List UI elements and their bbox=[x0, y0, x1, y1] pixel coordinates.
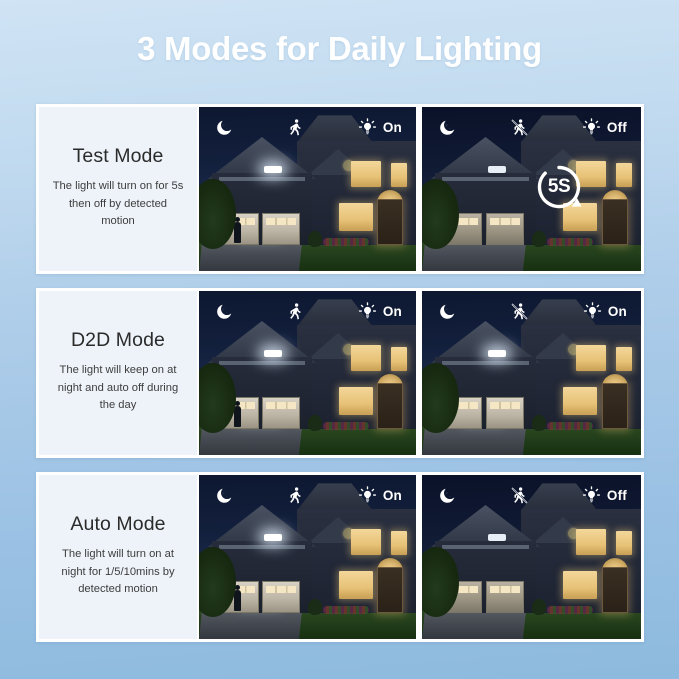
light-bulb-icon bbox=[358, 118, 377, 137]
window-upper-right bbox=[576, 529, 606, 555]
shrub bbox=[308, 415, 322, 431]
window-lower-right bbox=[563, 571, 597, 599]
garage-door-2 bbox=[486, 581, 524, 613]
status-icon-bar: On bbox=[199, 299, 416, 323]
window-upper-right bbox=[351, 161, 381, 187]
garage-window-2 bbox=[266, 586, 296, 593]
light-bulb-icon bbox=[358, 486, 377, 505]
lamp-state-label: On bbox=[383, 488, 402, 503]
window-lower-right bbox=[563, 203, 597, 231]
light-bulb-icon bbox=[582, 486, 601, 505]
window-upper-far-right bbox=[391, 163, 407, 187]
roof-trim bbox=[219, 545, 306, 549]
mode-text-panel: Test Mode The light will turn on for 5s … bbox=[39, 107, 197, 271]
no-motion-person-icon bbox=[510, 302, 529, 321]
no-motion-person-icon bbox=[510, 118, 529, 137]
motion-indicator bbox=[234, 486, 358, 505]
night-indicator bbox=[438, 486, 457, 505]
night-indicator bbox=[438, 302, 457, 321]
modes-list: Test Mode The light will turn on for 5s … bbox=[36, 104, 644, 656]
status-icon-bar: Off bbox=[422, 483, 641, 507]
mode-description: The light will turn on at night for 1/5/… bbox=[45, 546, 191, 598]
shrub bbox=[308, 599, 322, 615]
lamp-state-label: On bbox=[608, 304, 627, 319]
lamp-indicator: Off bbox=[582, 118, 627, 137]
light-bulb-icon bbox=[358, 302, 377, 321]
garage-window-2 bbox=[266, 218, 296, 225]
scene-photo-left: On bbox=[197, 475, 419, 639]
walking-person-motion-icon bbox=[286, 302, 305, 321]
mode-title: Test Mode bbox=[73, 146, 164, 167]
mode-title: D2D Mode bbox=[71, 330, 165, 351]
light-bulb-icon bbox=[583, 302, 602, 321]
window-lower-right bbox=[339, 571, 373, 599]
front-door bbox=[377, 567, 403, 613]
flower-bed bbox=[547, 238, 593, 246]
window-upper-far-right bbox=[616, 163, 632, 187]
window-upper-right bbox=[576, 345, 606, 371]
window-upper-far-right bbox=[616, 347, 632, 371]
garage-window-2 bbox=[490, 586, 520, 593]
security-floodlight bbox=[488, 350, 506, 357]
mode-photos: On bbox=[197, 291, 641, 455]
motion-indicator bbox=[457, 118, 582, 137]
night-indicator bbox=[215, 486, 234, 505]
garage-door-2 bbox=[486, 213, 524, 245]
lamp-indicator: On bbox=[358, 302, 402, 321]
lamp-indicator: On bbox=[358, 118, 402, 137]
lamp-state-label: On bbox=[383, 304, 402, 319]
motion-indicator bbox=[457, 302, 583, 321]
lamp-state-label: Off bbox=[607, 488, 627, 503]
moon-night-icon bbox=[438, 118, 457, 137]
garage-window-2 bbox=[266, 402, 296, 409]
security-floodlight bbox=[488, 534, 506, 541]
garage-window-2 bbox=[490, 218, 520, 225]
moon-night-icon bbox=[215, 302, 234, 321]
garage-door-2 bbox=[262, 213, 300, 245]
garage-window-2 bbox=[490, 402, 520, 409]
scene-photo-right: Off bbox=[419, 107, 641, 271]
infographic-page: 3 Modes for Daily Lighting Test Mode The… bbox=[0, 0, 679, 679]
moon-night-icon bbox=[438, 486, 457, 505]
front-door bbox=[377, 199, 403, 245]
night-indicator bbox=[215, 302, 234, 321]
flower-bed bbox=[547, 606, 593, 614]
shrub bbox=[532, 231, 546, 247]
scene-photo-right: Off bbox=[419, 475, 641, 639]
flower-bed bbox=[323, 238, 369, 246]
motion-indicator bbox=[234, 118, 358, 137]
status-icon-bar: On bbox=[199, 115, 416, 139]
lamp-indicator: Off bbox=[582, 486, 627, 505]
security-floodlight bbox=[488, 166, 506, 173]
front-door bbox=[602, 383, 628, 429]
garage-door-2 bbox=[262, 581, 300, 613]
front-door bbox=[602, 567, 628, 613]
mode-description: The light will turn on for 5s then off b… bbox=[45, 178, 191, 230]
window-lower-right bbox=[339, 203, 373, 231]
mode-row: Auto Mode The light will turn on at nigh… bbox=[36, 472, 644, 642]
page-title: 3 Modes for Daily Lighting bbox=[0, 30, 679, 68]
window-upper-far-right bbox=[391, 347, 407, 371]
roof-trim bbox=[219, 361, 306, 365]
roof-trim bbox=[442, 545, 530, 549]
shrub bbox=[532, 415, 546, 431]
window-upper-right bbox=[351, 529, 381, 555]
lamp-indicator: On bbox=[583, 302, 627, 321]
roof-trim bbox=[442, 177, 530, 181]
window-upper-far-right bbox=[616, 531, 632, 555]
mode-title: Auto Mode bbox=[70, 514, 165, 535]
roof-trim bbox=[442, 361, 530, 365]
mode-description: The light will keep on at night and auto… bbox=[45, 362, 191, 414]
status-icon-bar: Off bbox=[422, 115, 641, 139]
mode-photos: On bbox=[197, 475, 641, 639]
scene-photo-left: On bbox=[197, 291, 419, 455]
lamp-state-label: On bbox=[383, 120, 402, 135]
flower-bed bbox=[323, 422, 369, 430]
motion-indicator bbox=[457, 486, 582, 505]
walking-person-motion-icon bbox=[286, 486, 305, 505]
front-door bbox=[602, 199, 628, 245]
window-lower-right bbox=[339, 387, 373, 415]
scene-photo-right: On bbox=[419, 291, 641, 455]
flower-bed bbox=[547, 422, 593, 430]
security-floodlight bbox=[264, 534, 282, 541]
light-bulb-icon bbox=[582, 118, 601, 137]
mode-text-panel: Auto Mode The light will turn on at nigh… bbox=[39, 475, 197, 639]
security-floodlight bbox=[264, 166, 282, 173]
security-floodlight bbox=[264, 350, 282, 357]
window-upper-far-right bbox=[391, 531, 407, 555]
walking-person-motion-icon bbox=[286, 118, 305, 137]
lamp-indicator: On bbox=[358, 486, 402, 505]
moon-night-icon bbox=[215, 486, 234, 505]
mode-text-panel: D2D Mode The light will keep on at night… bbox=[39, 291, 197, 455]
roof-trim bbox=[219, 177, 306, 181]
garage-door-2 bbox=[262, 397, 300, 429]
status-icon-bar: On bbox=[422, 299, 641, 323]
status-icon-bar: On bbox=[199, 483, 416, 507]
night-indicator bbox=[438, 118, 457, 137]
mode-photos: On bbox=[197, 107, 641, 271]
moon-night-icon bbox=[438, 302, 457, 321]
scene-photo-left: On bbox=[197, 107, 419, 271]
garage-door-2 bbox=[486, 397, 524, 429]
window-upper-right bbox=[351, 345, 381, 371]
window-upper-right bbox=[576, 161, 606, 187]
flower-bed bbox=[323, 606, 369, 614]
window-lower-right bbox=[563, 387, 597, 415]
lamp-state-label: Off bbox=[607, 120, 627, 135]
motion-indicator bbox=[234, 302, 358, 321]
mode-row: D2D Mode The light will keep on at night… bbox=[36, 288, 644, 458]
moon-night-icon bbox=[215, 118, 234, 137]
shrub bbox=[308, 231, 322, 247]
night-indicator bbox=[215, 118, 234, 137]
no-motion-person-icon bbox=[510, 486, 529, 505]
mode-row: Test Mode The light will turn on for 5s … bbox=[36, 104, 644, 274]
front-door bbox=[377, 383, 403, 429]
shrub bbox=[532, 599, 546, 615]
